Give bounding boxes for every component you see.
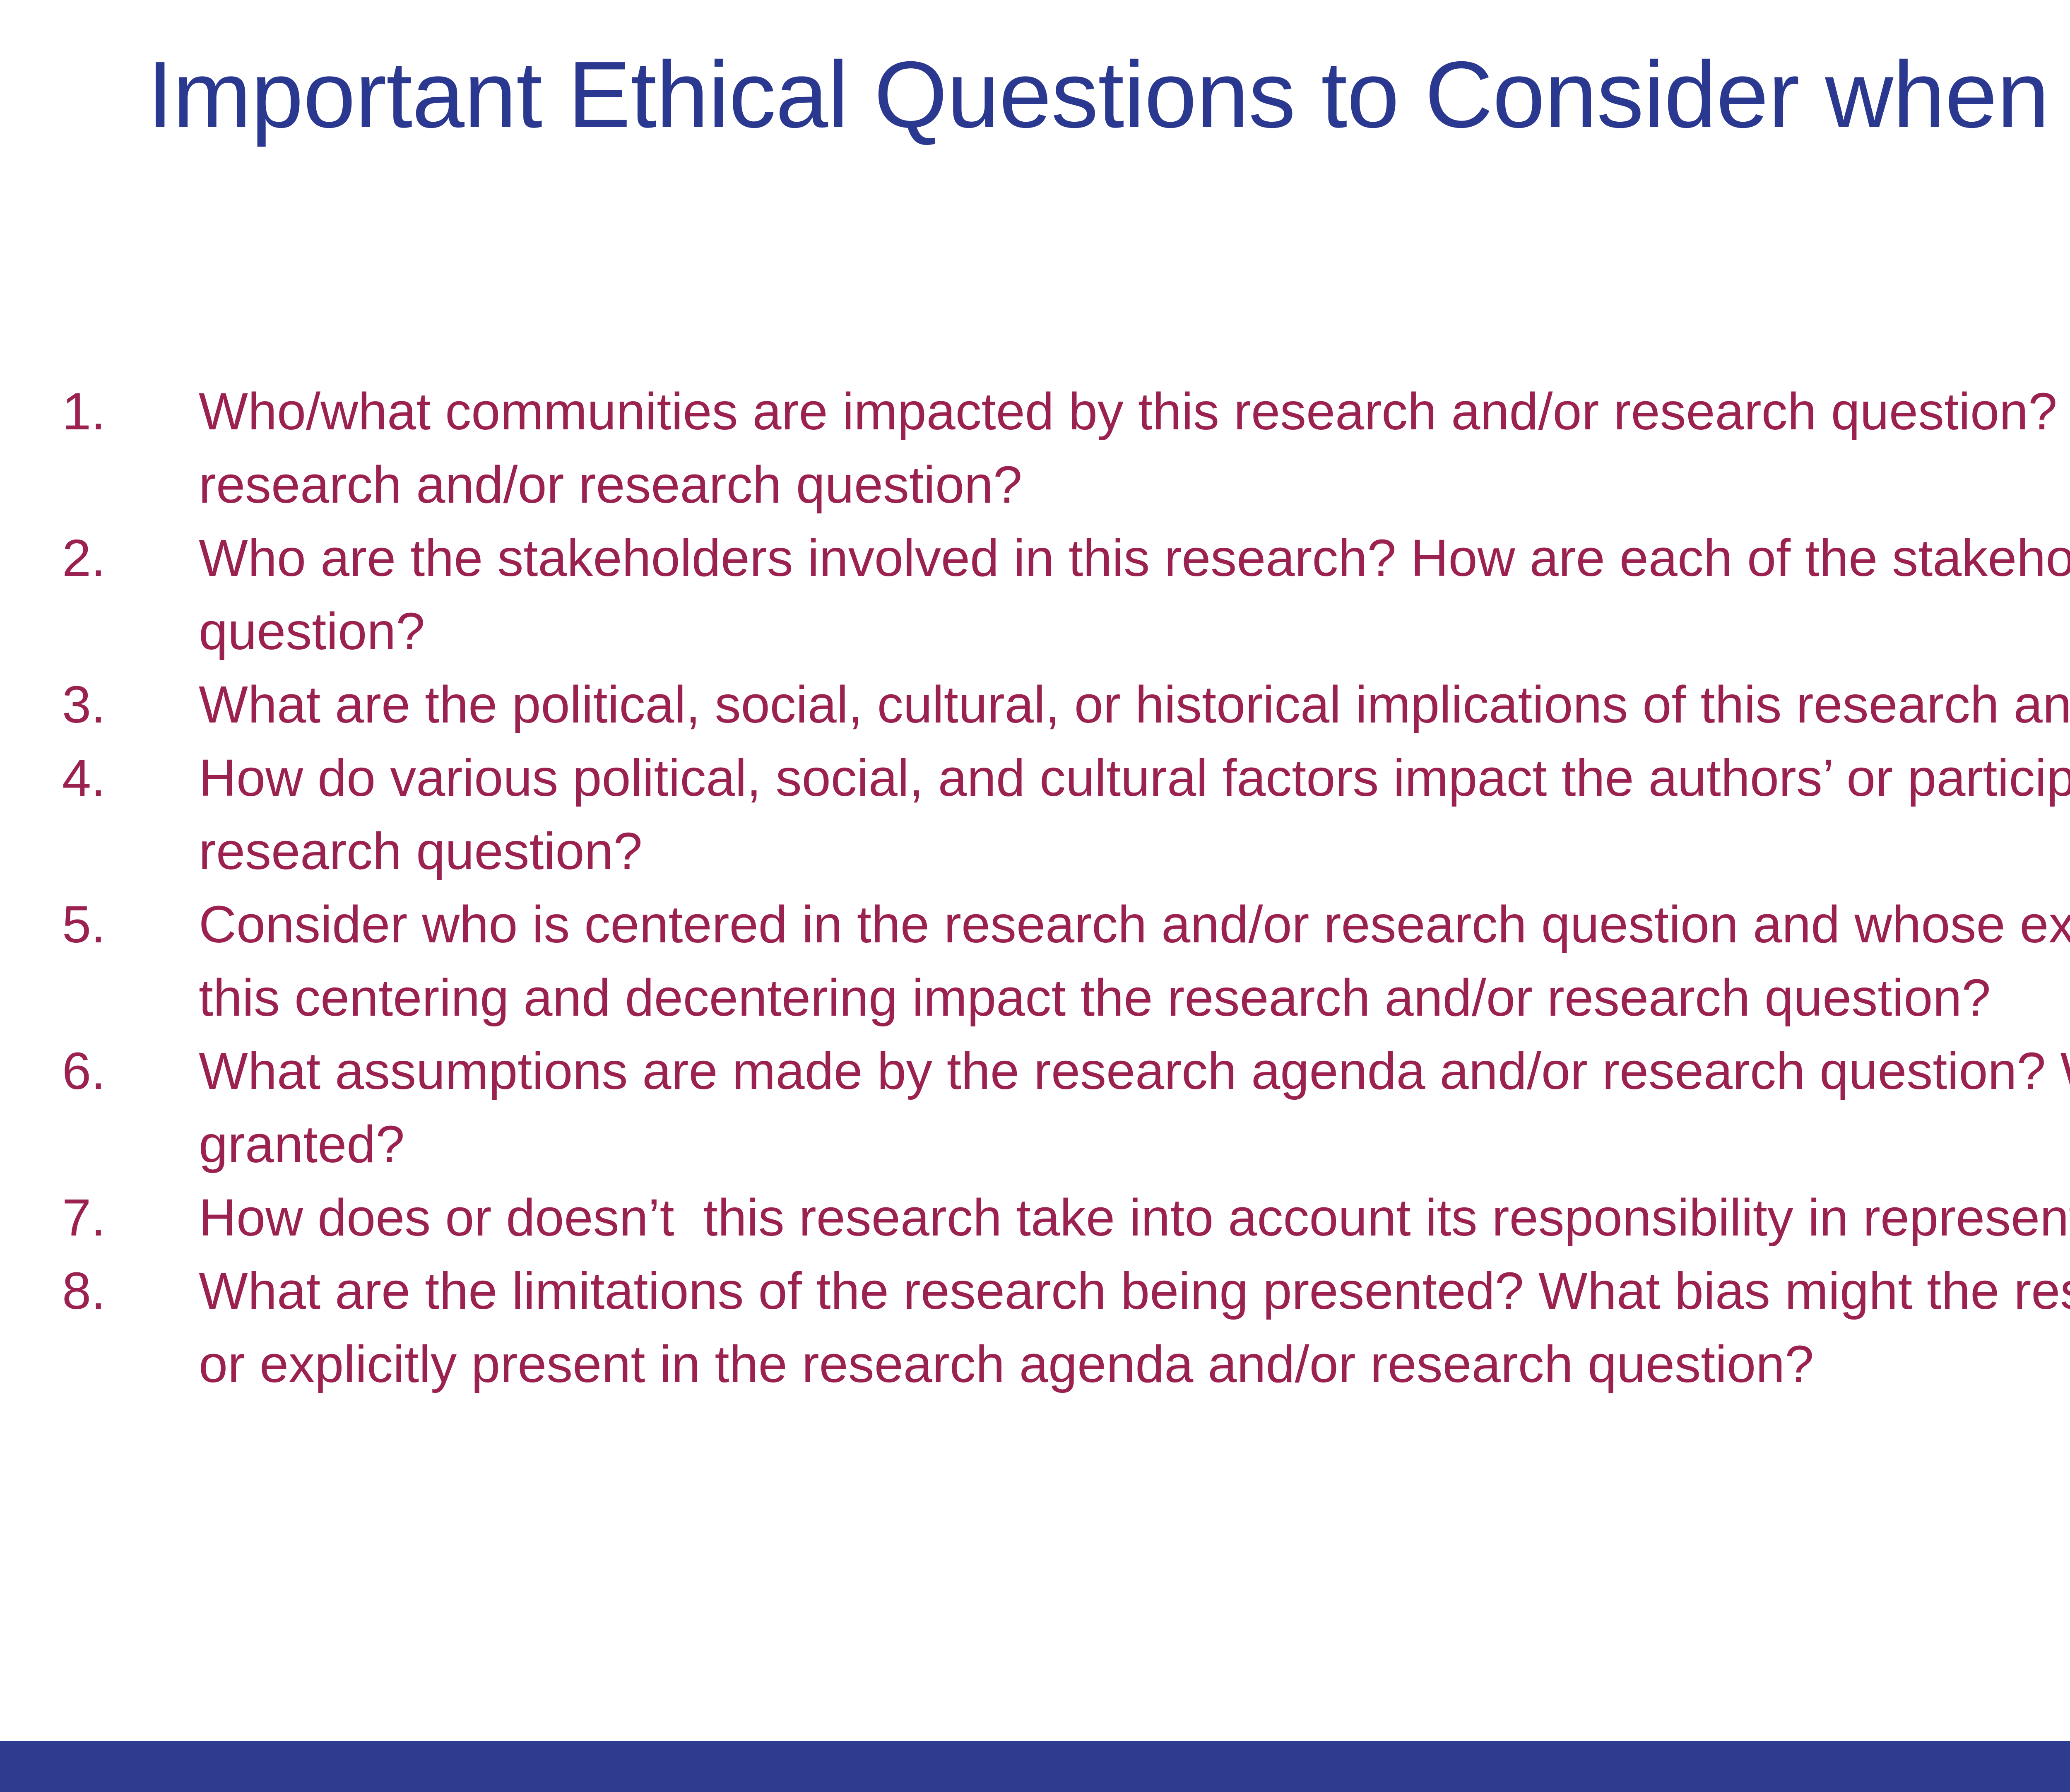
list-item-text: What are the limitations of the research…	[199, 1254, 2070, 1401]
decorative-bottom-bar	[0, 1741, 2070, 1792]
list-item-text: What are the political, social, cultural…	[199, 668, 2070, 741]
list-item-number: 7.	[62, 1181, 199, 1254]
slide-canvas: Important Ethical Questions to Consider …	[0, 0, 2070, 1792]
list-item-number: 5.	[62, 888, 199, 961]
list-item: 6. What assumptions are made by the rese…	[62, 1034, 2070, 1181]
list-item-text: How does or doesn’t this research take i…	[199, 1181, 2070, 1254]
list-item-number: 2.	[62, 521, 199, 595]
list-item: 3. What are the political, social, cultu…	[62, 668, 2070, 741]
list-item: 1. Who/what communities are impacted by …	[62, 375, 2070, 521]
list-item: 2. Who are the stakeholders involved in …	[62, 521, 2070, 668]
list-item-text: How do various political, social, and cu…	[199, 741, 2070, 888]
list-item-number: 1.	[62, 375, 199, 448]
list-item-number: 4.	[62, 741, 199, 814]
list-item: 5. Consider who is centered in the resea…	[62, 888, 2070, 1034]
list-item: 8. What are the limitations of the resea…	[62, 1254, 2070, 1401]
list-item-number: 6.	[62, 1034, 199, 1108]
list-item-text: Who/what communities are impacted by thi…	[199, 375, 2070, 521]
list-item-text: Consider who is centered in the research…	[199, 888, 2070, 1034]
list-item: 7. How does or doesn’t this research tak…	[62, 1181, 2070, 1254]
list-item: 4. How do various political, social, and…	[62, 741, 2070, 888]
list-item-text: Who are the stakeholders involved in thi…	[199, 521, 2070, 668]
list-item-number: 3.	[62, 668, 199, 741]
list-item-number: 8.	[62, 1254, 199, 1327]
page-title: Important Ethical Questions to Consider …	[147, 39, 2070, 151]
ethical-questions-list: 1. Who/what communities are impacted by …	[62, 375, 2070, 1401]
list-item-text: What assumptions are made by the researc…	[199, 1034, 2070, 1181]
